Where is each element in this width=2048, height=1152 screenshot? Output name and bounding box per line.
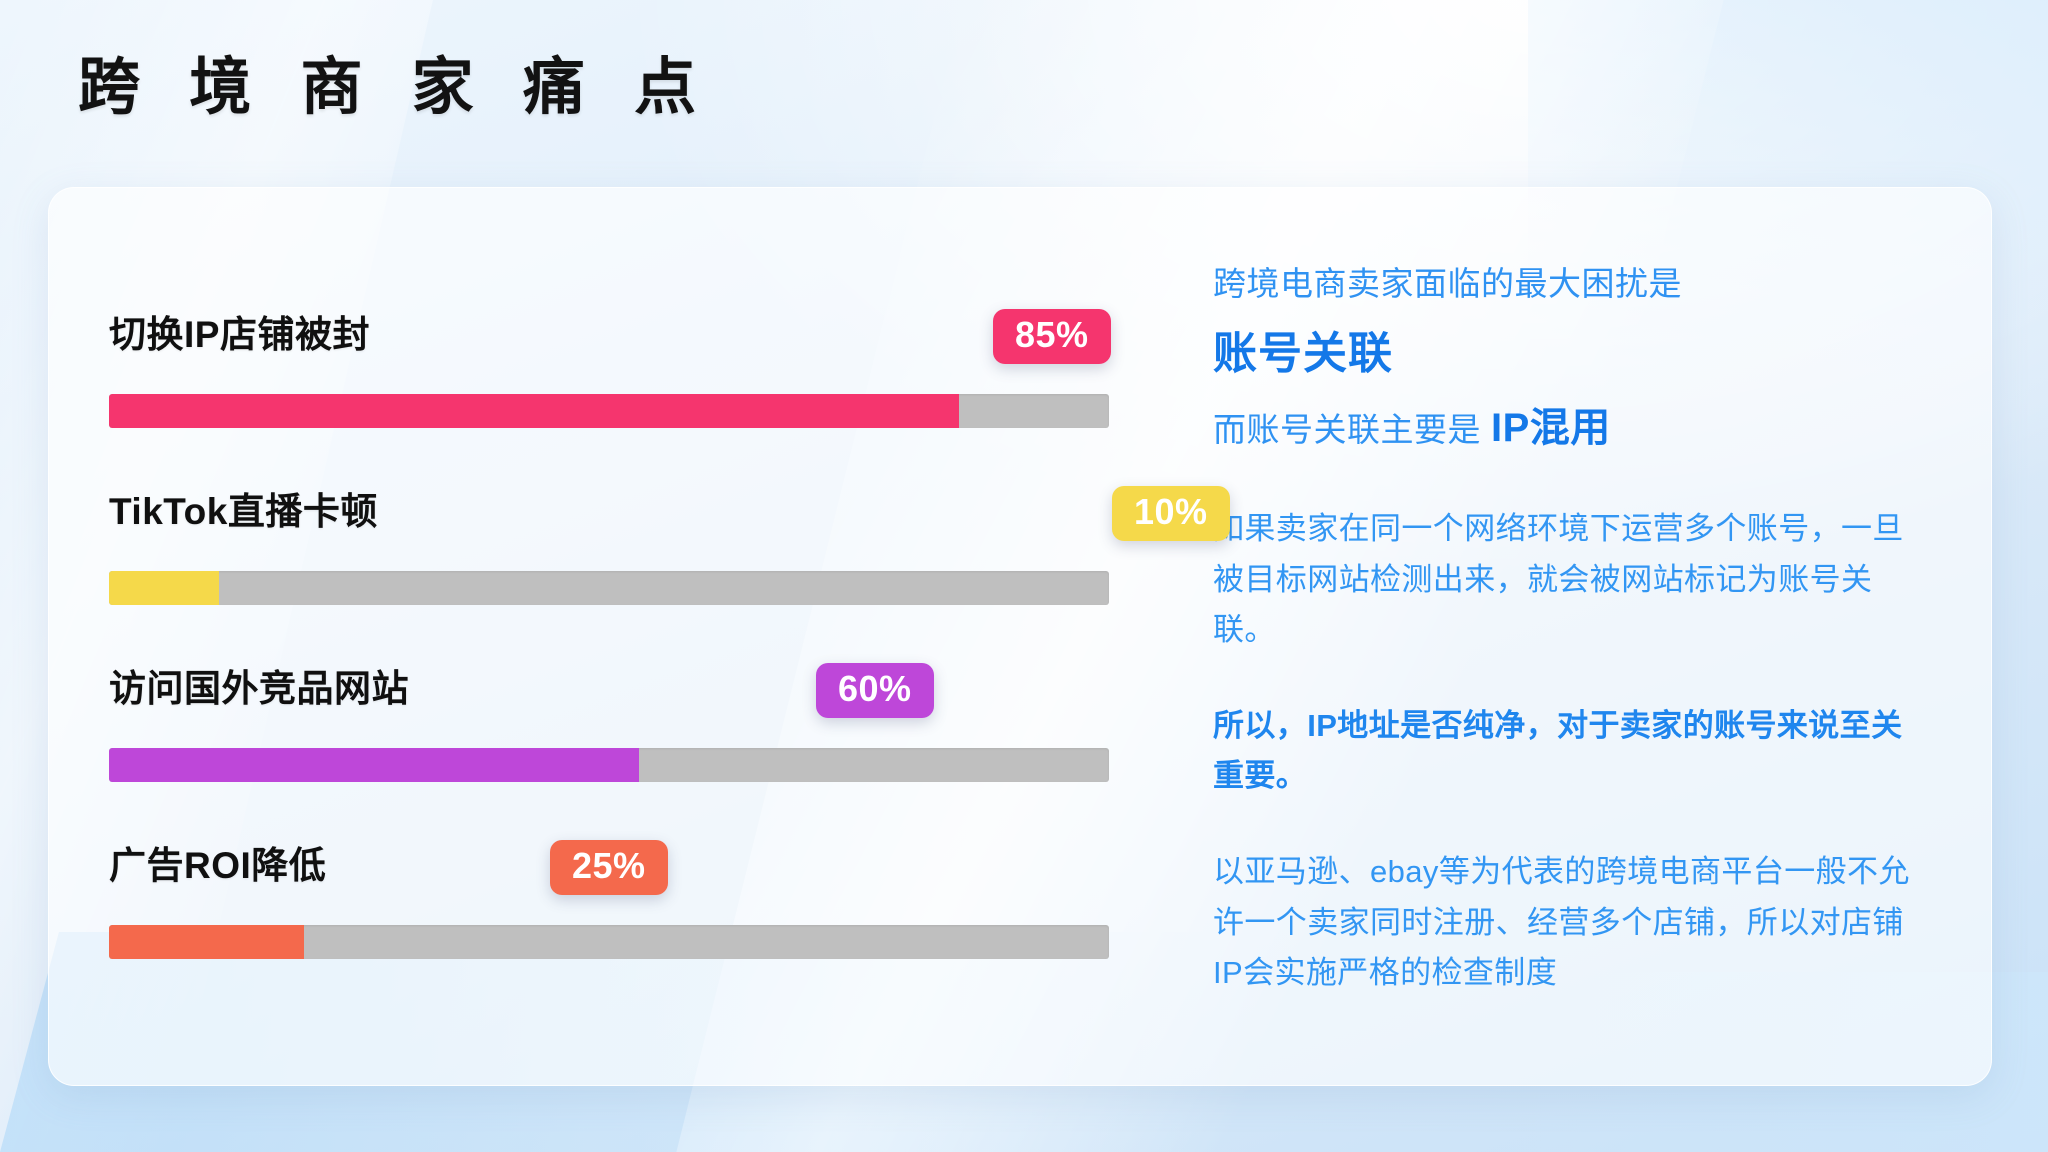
bar-fill <box>109 571 219 605</box>
bar-header: 访问国外竞品网站 60% <box>109 628 1169 724</box>
bar-label: 访问国外竞品网站 <box>109 658 409 712</box>
bar-header: 切换IP店铺被封 85% <box>109 274 1169 370</box>
subheadline-prefix: 而账号关联主要是 <box>1213 411 1481 448</box>
bar-row: 广告ROI降低 25% <box>109 805 1169 982</box>
intro-text: 跨境电商卖家面临的最大困扰是 <box>1213 258 1921 311</box>
bar-track <box>109 394 1109 428</box>
paragraph-two: 所以，IP地址是否纯净，对于卖家的账号来说至关重要。 <box>1213 701 1921 801</box>
content-card: 切换IP店铺被封 85% TikTok直播卡顿 10% 访问国外竞品网站 60% <box>48 187 1992 1086</box>
bar-track <box>109 571 1109 605</box>
bar-header: TikTok直播卡顿 10% <box>109 451 1169 547</box>
bar-fill <box>109 748 639 782</box>
bar-row: 切换IP店铺被封 85% <box>109 274 1169 451</box>
bar-fill <box>109 925 304 959</box>
pain-point-bar-chart: 切换IP店铺被封 85% TikTok直播卡顿 10% 访问国外竞品网站 60% <box>49 188 1169 1085</box>
bar-header: 广告ROI降低 25% <box>109 805 1169 901</box>
bar-row: TikTok直播卡顿 10% <box>109 451 1169 628</box>
paragraph-one: 如果卖家在同一个网络环境下运营多个账号，一旦被目标网站检测出来，就会被网站标记为… <box>1213 504 1921 655</box>
bar-row: 访问国外竞品网站 60% <box>109 628 1169 805</box>
bar-label: 广告ROI降低 <box>109 835 326 889</box>
page-title: 跨 境 商 家 痛 点 <box>78 52 712 123</box>
bar-label: 切换IP店铺被封 <box>109 304 370 358</box>
explanation-pane: 跨境电商卖家面临的最大困扰是 账号关联 而账号关联主要是IP混用 如果卖家在同一… <box>1169 188 1991 1085</box>
bar-value-badge: 10% <box>1112 486 1230 541</box>
bar-track <box>109 748 1109 782</box>
bar-value-badge: 85% <box>993 309 1111 364</box>
subheadline-line: 而账号关联主要是IP混用 <box>1213 398 1921 458</box>
bar-value-badge: 60% <box>816 663 934 718</box>
bar-label: TikTok直播卡顿 <box>109 481 378 535</box>
bar-track <box>109 925 1109 959</box>
paragraph-three: 以亚马逊、ebay等为代表的跨境电商平台一般不允许一个卖家同时注册、经营多个店铺… <box>1213 847 1921 998</box>
headline-text: 账号关联 <box>1213 323 1921 385</box>
subheadline-emphasis: IP混用 <box>1491 406 1611 450</box>
bar-fill <box>109 394 959 428</box>
bar-value-badge: 25% <box>550 840 668 895</box>
